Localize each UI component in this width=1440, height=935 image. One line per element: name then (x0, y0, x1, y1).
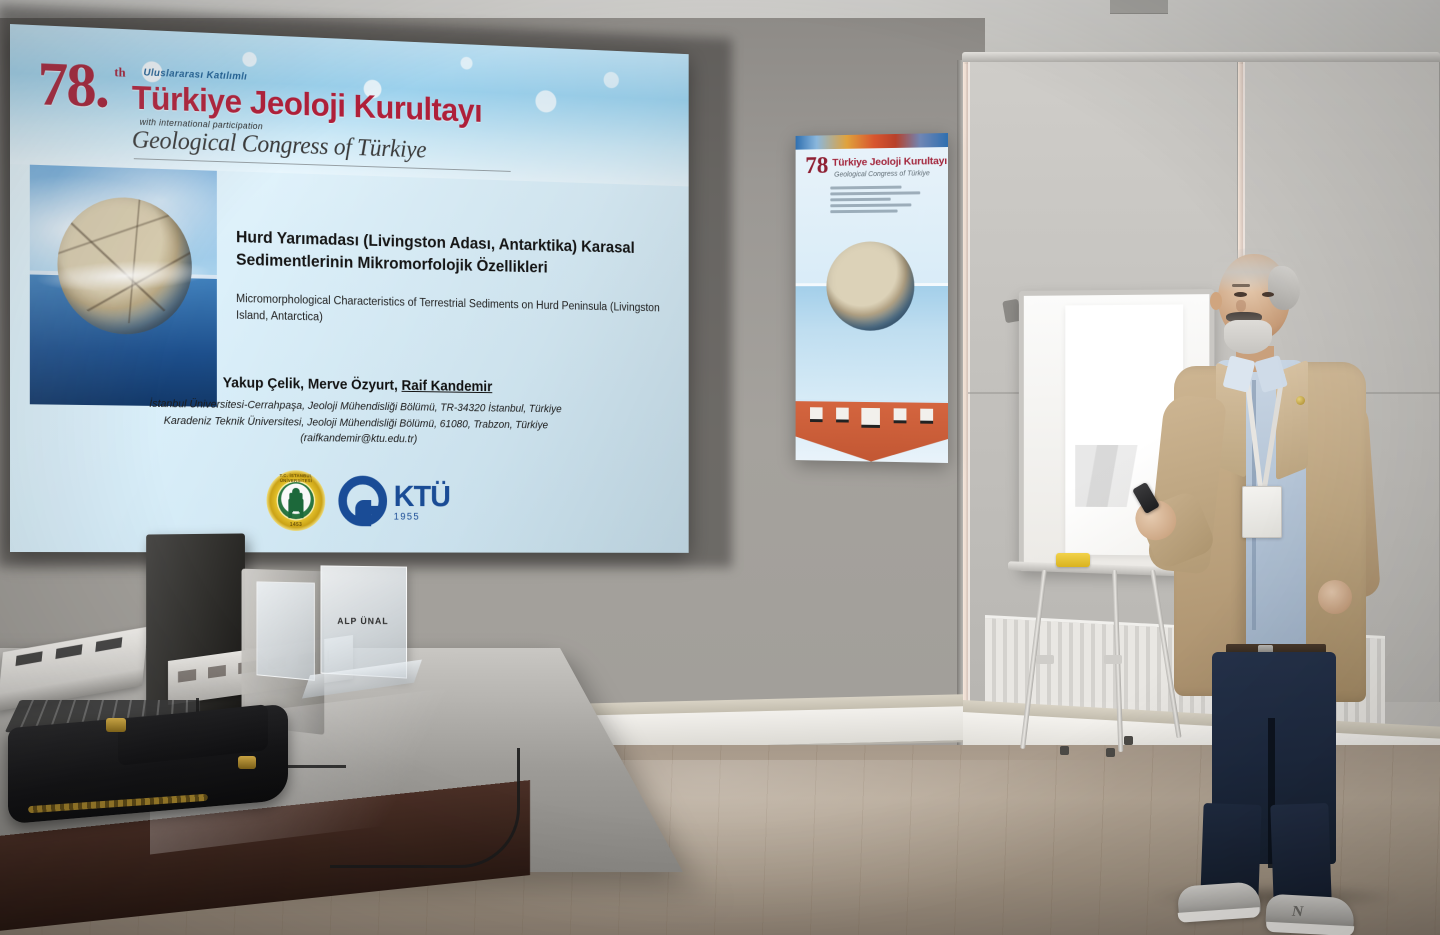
presenter-eye (1262, 292, 1274, 297)
cable (330, 748, 520, 868)
globe-graphic (30, 165, 217, 407)
lapel-pin-icon (1296, 396, 1305, 405)
seal-year: 1453 (267, 522, 326, 528)
institution-logos: T.C. İSTANBUL ÜNİVERSİTESİ 1453 KTÜ 1955 (10, 468, 689, 532)
banner-detail-text-lines (830, 185, 932, 216)
acrylic-plate (256, 581, 314, 681)
banner-globe-icon (826, 241, 914, 331)
projection-screen[interactable]: 78. th Uluslararası Katılımlı Türkiye Je… (10, 24, 689, 553)
congress-edition-superscript: th (114, 64, 125, 80)
easel-foot (1124, 736, 1133, 745)
ktu-logo: KTÜ 1955 (339, 476, 450, 527)
name-badge (1242, 486, 1282, 538)
presenter-right-leg (1270, 803, 1331, 905)
nameplate-text: ALP ÜNAL (338, 616, 389, 626)
presenter-ear (1210, 292, 1222, 310)
ktu-text: KTÜ 1955 (394, 480, 450, 522)
congress-title-en: Geological Congress of Türkiye (132, 126, 426, 164)
presenter: N (1140, 248, 1390, 888)
presentation-slide: 78. th Uluslararası Katılımlı Türkiye Je… (10, 24, 689, 553)
banner-title-en: Geological Congress of Türkiye (834, 170, 930, 178)
conference-room-photo: 78. th Uluslararası Katılımlı Türkiye Je… (0, 0, 1440, 935)
presenter-hair-side (1268, 266, 1300, 310)
qr-code-icon (920, 409, 933, 424)
handbag-clasp (106, 718, 126, 732)
ceiling-vent (1110, 0, 1168, 14)
easel-foot (1106, 748, 1115, 757)
presenter-eyebrow (1232, 284, 1250, 287)
banner-title-tr: Türkiye Jeoloji Kurultayı (832, 155, 947, 169)
istanbul-university-seal-icon: T.C. İSTANBUL ÜNİVERSİTESİ 1453 (267, 470, 326, 531)
slide-affiliations: İstanbul Üniversitesi-Cerrahpaşa, Jeoloj… (10, 394, 689, 450)
slide-title-english: Micromorphological Characteristics of Te… (236, 291, 669, 333)
presenter-nose (1236, 300, 1246, 312)
easel-clamp (1036, 655, 1054, 664)
banner-rainbow-stripe (796, 133, 948, 150)
banner-qr-row (796, 407, 948, 429)
ktu-mark-icon (339, 476, 388, 527)
slide-title-turkish: Hurd Yarımadası (Livingston Adası, Antar… (236, 226, 669, 283)
banner-edition-number: 78 (805, 153, 828, 180)
congress-edition-number: 78. (38, 53, 108, 117)
qr-code-icon (810, 407, 823, 422)
easel-foot (1060, 746, 1069, 755)
blind-light-gap (963, 62, 968, 702)
seal-inner (278, 482, 314, 519)
seal-tree-icon (292, 488, 300, 511)
ktu-year: 1955 (394, 512, 450, 522)
edition-dot: . (95, 53, 108, 121)
qr-code-icon (862, 408, 881, 428)
author-presenting: Raif Kandemir (402, 378, 493, 395)
rollup-banner: 78 Türkiye Jeoloji Kurultayı Geological … (796, 133, 948, 463)
handbag-clasp (238, 756, 256, 769)
whiteboard-eraser-icon[interactable] (1056, 553, 1090, 567)
presenter-beard (1224, 320, 1272, 354)
qr-code-icon (836, 408, 849, 423)
acrylic-nameplate: ALP ÜNAL (320, 565, 407, 678)
authors-plain: Yakup Çelik, Merve Özyurt, (223, 375, 402, 393)
easel-clamp (1104, 655, 1122, 664)
ktu-name: KTÜ (394, 480, 450, 510)
qr-code-icon (894, 408, 907, 423)
presenter-eye (1234, 292, 1247, 297)
presenter-right-hand (1318, 580, 1352, 614)
